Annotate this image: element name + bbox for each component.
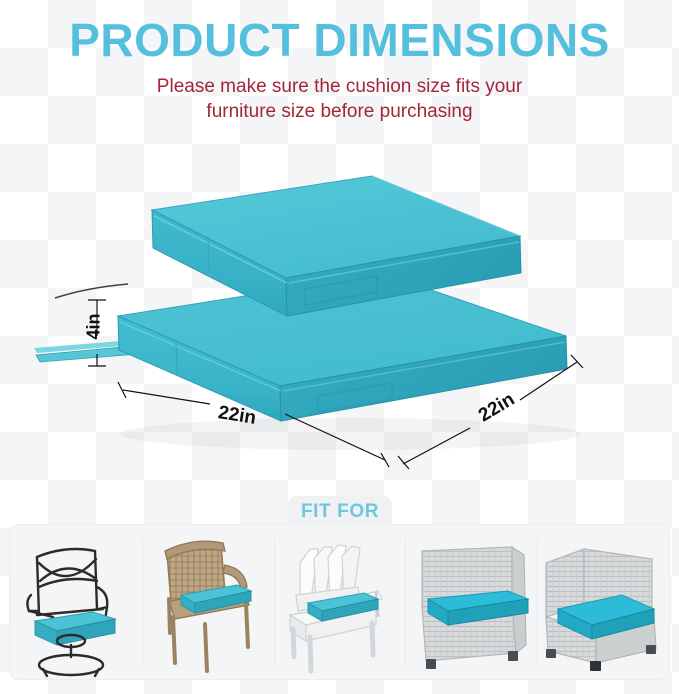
fit-for-panel	[9, 524, 670, 680]
swivel-chair-cushion	[35, 612, 115, 645]
dimension-label-height: 4in	[84, 313, 105, 339]
page-subtitle: Please make sure the cushion size fits y…	[125, 74, 555, 124]
swivel-chair-frame	[27, 549, 107, 621]
fit-item-swivel-chair[interactable]	[10, 525, 142, 679]
ground-shadow	[120, 418, 580, 450]
fit-for-label: FIT FOR	[301, 502, 379, 521]
page-title: PRODUCT DIMENSIONS	[0, 16, 679, 64]
cushion-connector-strap	[55, 284, 128, 298]
header: PRODUCT DIMENSIONS Please make sure the …	[0, 16, 679, 124]
top-cushion	[55, 176, 521, 316]
fit-item-armless-sectional[interactable]	[405, 525, 537, 679]
fit-item-corner-sectional[interactable]	[537, 525, 669, 679]
fit-item-wicker-dining-chair[interactable]	[142, 525, 274, 679]
infographic-page: PRODUCT DIMENSIONS Please make sure the …	[0, 0, 679, 694]
fit-for-badge: FIT FOR	[288, 496, 392, 526]
fit-item-adirondack-chair[interactable]	[274, 525, 406, 679]
